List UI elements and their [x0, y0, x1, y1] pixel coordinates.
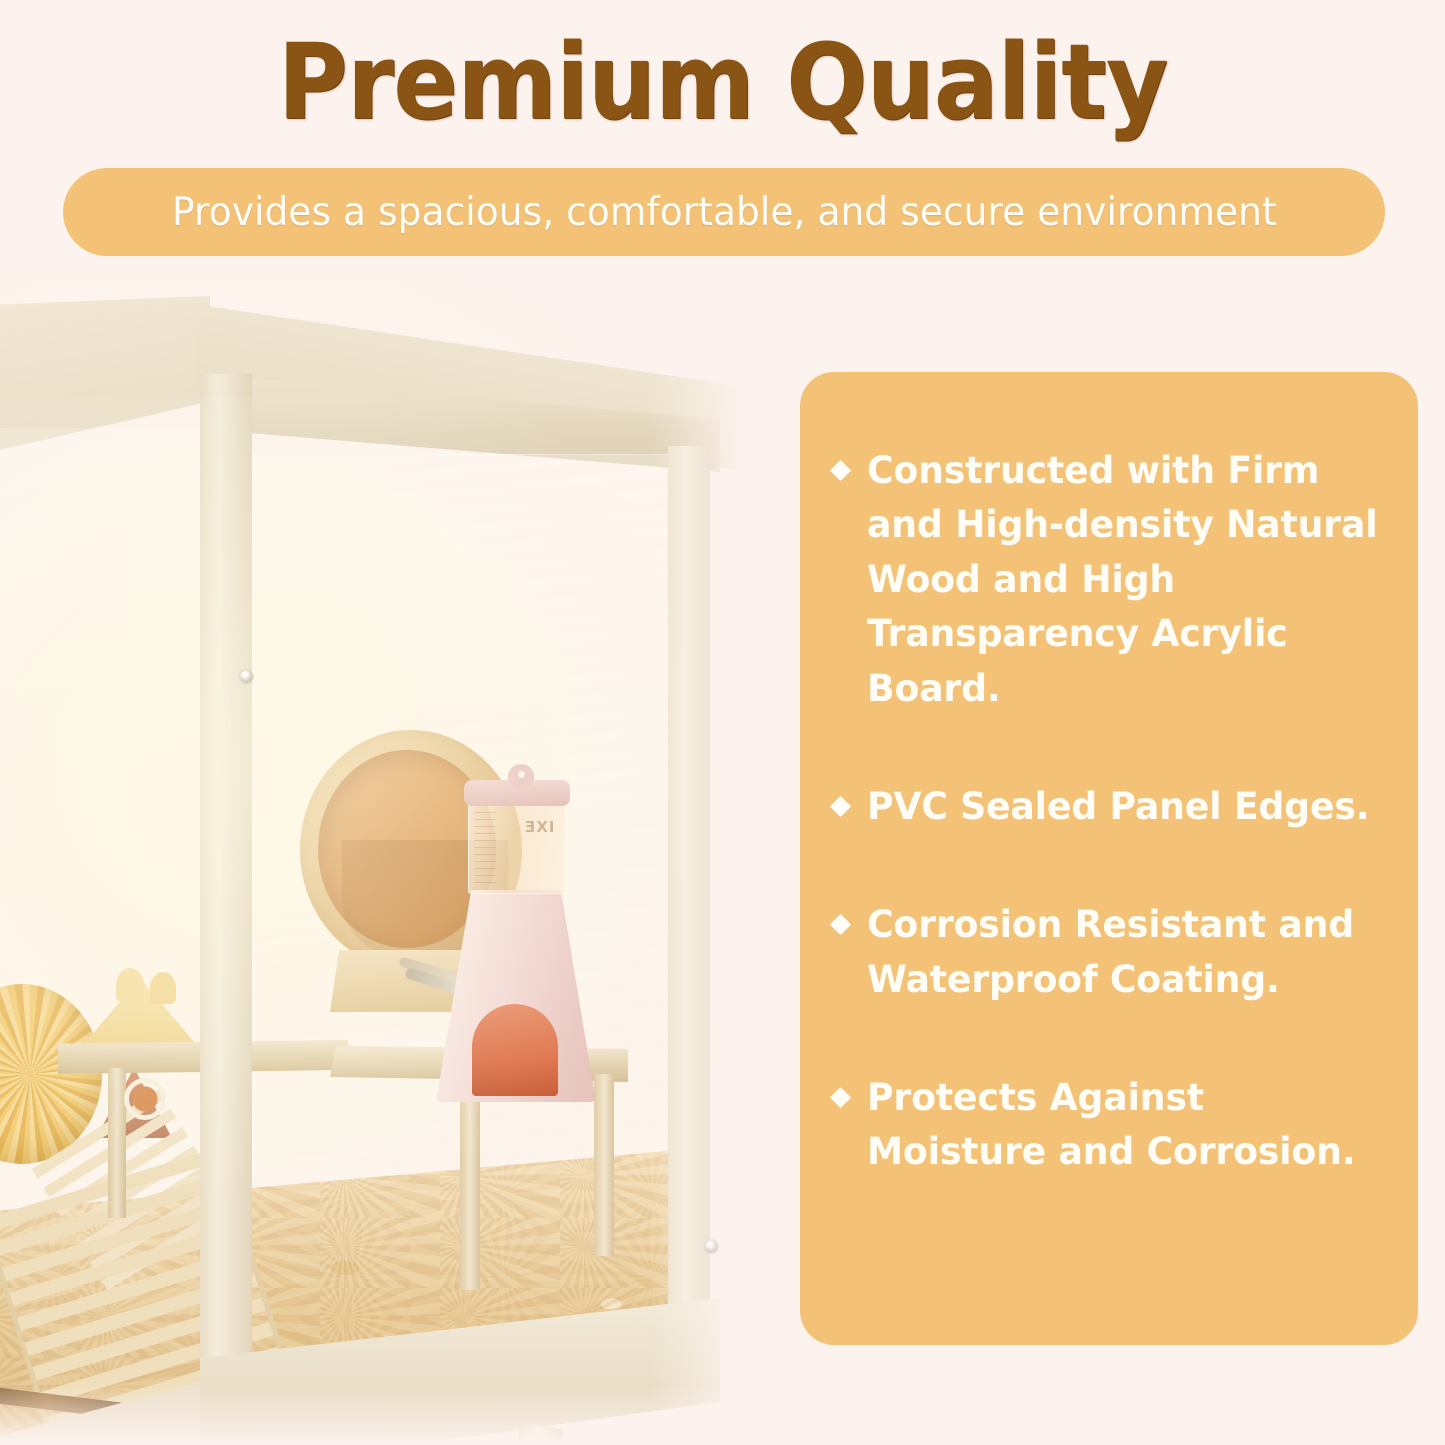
bullet-text: Corrosion Resistant and Waterproof Coati… — [867, 898, 1378, 1007]
bullet-text: Constructed with Firm and High-density N… — [867, 444, 1378, 716]
water-bottle-brand-text: IXE — [524, 818, 554, 836]
infographic-page: Premium Quality Provides a spacious, com… — [0, 0, 1445, 1445]
feature-bullet-list: Constructed with Firm and High-density N… — [833, 444, 1388, 1180]
water-bottle-scale-marks — [474, 812, 496, 886]
screw-icon — [240, 670, 253, 683]
subtitle-text: Provides a spacious, comfortable, and se… — [172, 190, 1277, 235]
subtitle-banner: Provides a spacious, comfortable, and se… — [63, 168, 1385, 256]
bullet-text: PVC Sealed Panel Edges. — [867, 780, 1369, 834]
diamond-bullet-icon — [830, 460, 851, 481]
page-title: Premium Quality — [58, 28, 1387, 137]
water-bottle-base-opening — [472, 1004, 558, 1096]
screw-icon — [705, 1240, 718, 1253]
platform-main-leg-a — [460, 1078, 480, 1290]
bullet-text: Protects Against Moisture and Corrosion. — [867, 1071, 1378, 1180]
hamster-hut-ear-left — [116, 968, 144, 1002]
cage-post-front — [200, 374, 252, 1436]
feature-panel: Constructed with Firm and High-density N… — [800, 372, 1418, 1345]
list-item: Protects Against Moisture and Corrosion. — [833, 1071, 1388, 1180]
hamster-hut-ear-right — [150, 972, 176, 1004]
list-item: PVC Sealed Panel Edges. — [833, 780, 1388, 834]
platform-left-leg — [108, 1068, 126, 1218]
list-item: Corrosion Resistant and Waterproof Coati… — [833, 898, 1388, 1007]
tunnel-ring — [124, 1078, 166, 1120]
product-photo: IXE — [0, 278, 770, 1445]
diamond-bullet-icon — [830, 796, 851, 817]
list-item: Constructed with Firm and High-density N… — [833, 444, 1388, 716]
cage-post-right — [668, 446, 710, 1346]
water-bottle-hanger-hole — [518, 771, 525, 778]
platform-main-leg-b — [594, 1074, 614, 1256]
diamond-bullet-icon — [830, 1087, 851, 1108]
diamond-bullet-icon — [830, 914, 851, 935]
